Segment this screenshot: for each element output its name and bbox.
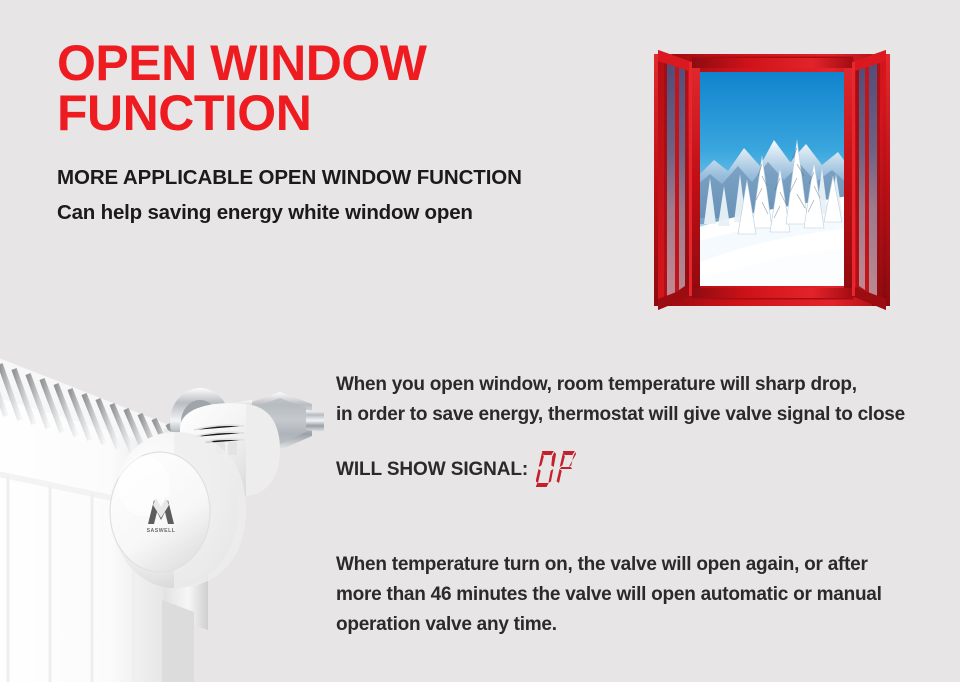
subtitle-primary: MORE APPLICABLE OPEN WINDOW FUNCTION xyxy=(57,166,522,190)
brand-name: SASWELL xyxy=(147,528,176,534)
description-paragraph-top: When you open window, room temperature w… xyxy=(336,370,956,430)
window-left-sash xyxy=(658,50,692,310)
radiator-valve-illustration: SASWELL xyxy=(0,300,324,682)
signal-indicator-row: WILL SHOW SIGNAL: xyxy=(336,455,584,494)
window-landscape xyxy=(696,62,848,294)
signal-label: WILL SHOW SIGNAL: xyxy=(336,455,528,485)
promo-page: OPEN WINDOW FUNCTION MORE APPLICABLE OPE… xyxy=(0,0,960,682)
open-window-illustration xyxy=(648,28,896,314)
window-right-sash xyxy=(852,50,886,310)
description-paragraph-bottom: When temperature turn on, the valve will… xyxy=(336,550,956,640)
subtitle-secondary: Can help saving energy white window open xyxy=(57,201,473,225)
page-title: OPEN WINDOW FUNCTION xyxy=(57,38,677,138)
seven-segment-op-display xyxy=(536,449,584,494)
